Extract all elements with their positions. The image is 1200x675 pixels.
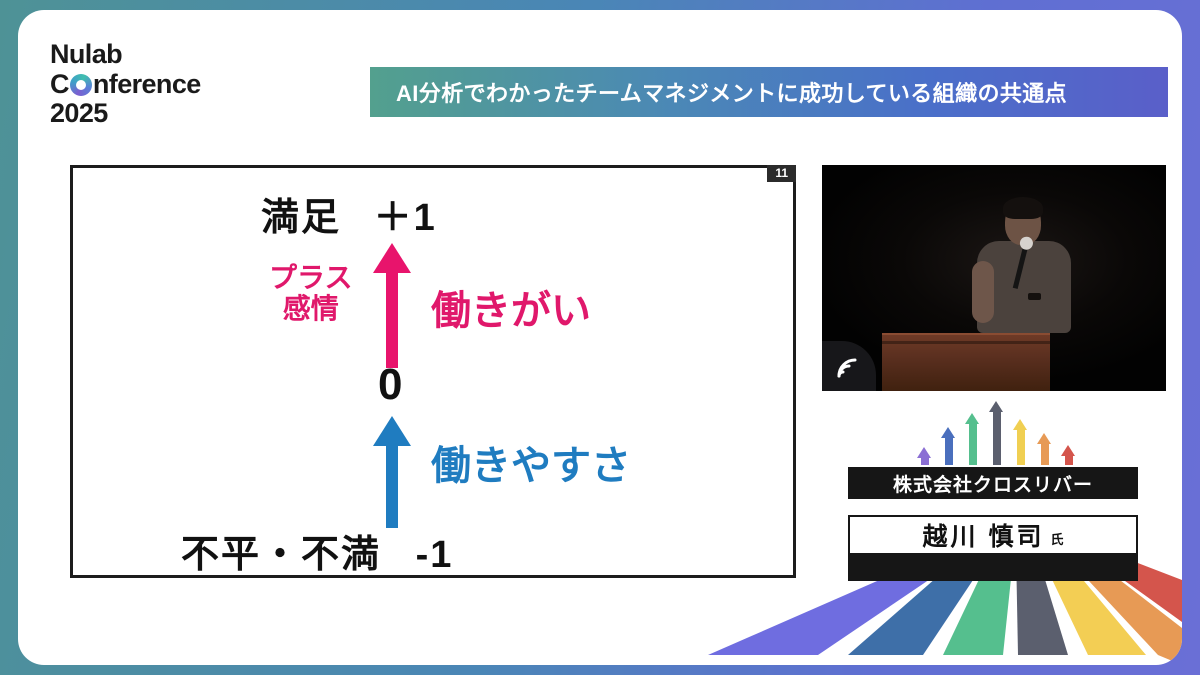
deco-arrow-4-icon (989, 401, 1004, 465)
podium (882, 333, 1050, 391)
deco-arrow-2-icon (941, 427, 956, 465)
logo-line-nulab: Nulab (50, 40, 201, 70)
deco-arrow-6-icon (1037, 433, 1052, 465)
arrow-up-pink-icon (383, 243, 401, 368)
plus-emotion-line2: 感情 (269, 293, 352, 324)
bottom-label-text: 不平・不満 (181, 534, 381, 576)
speaker-video-feed[interactable] (822, 165, 1166, 391)
nulab-conference-logo: Nulab C nference 2025 (50, 40, 201, 129)
satisfaction-top-label: 満足 ＋1 (261, 186, 437, 241)
speaker-company-plate: 株式会社クロスリバー (848, 467, 1138, 499)
speaker-name-text: 越川 慎司 (923, 517, 1045, 553)
page-title: AI分析でわかったチームマネジメントに成功している組織の共通点 (370, 76, 1067, 108)
lower-concept-label: 働きやすさ (431, 433, 631, 491)
deco-arrow-3-icon (965, 413, 980, 465)
deco-arrow-1-icon (917, 447, 932, 465)
logo-line-year: 2025 (50, 99, 201, 129)
speaker-hair (1003, 197, 1043, 219)
zero-value-label: 0 (378, 360, 402, 410)
plus-emotion-line1: プラス (269, 262, 352, 293)
bottom-value-text: -1 (416, 534, 454, 576)
top-label-text: 満足 (261, 197, 341, 239)
logo-conference-c: C (50, 70, 69, 100)
slide-number-badge: 11 (767, 165, 796, 182)
plus-emotion-label: プラス 感情 (269, 262, 352, 325)
deco-arrow-7-icon (1061, 445, 1076, 465)
logo-line-conference: C nference (50, 70, 201, 100)
wristwatch (1028, 293, 1041, 300)
decorative-arrow-group (880, 399, 1112, 465)
speaker-plate-footer-bar (848, 555, 1138, 581)
logo-conference-rest: nference (93, 70, 201, 100)
upper-concept-label: 働きがい (431, 278, 591, 336)
arrow-up-blue-icon (383, 416, 401, 528)
speaker-name-plate: 越川 慎司 氏 (848, 515, 1138, 555)
gradient-ring-icon (70, 74, 92, 96)
session-title-banner: AI分析でわかったチームマネジメントに成功している組織の共通点 (370, 67, 1168, 117)
top-value-text: ＋1 (374, 197, 437, 239)
dissatisfaction-bottom-label: 不平・不満 -1 (181, 523, 453, 578)
speaker-arm (972, 261, 994, 323)
presentation-slide: 11 満足 ＋1 プラス 感情 働きがい 0 働きやすさ 不平・不満 -1 (70, 165, 796, 578)
slide-card: Nulab C nference 2025 AI分析でわかったチームマネジメント… (18, 10, 1182, 665)
deco-arrow-5-icon (1013, 419, 1028, 465)
speaker-honorific-text: 氏 (1050, 522, 1063, 548)
